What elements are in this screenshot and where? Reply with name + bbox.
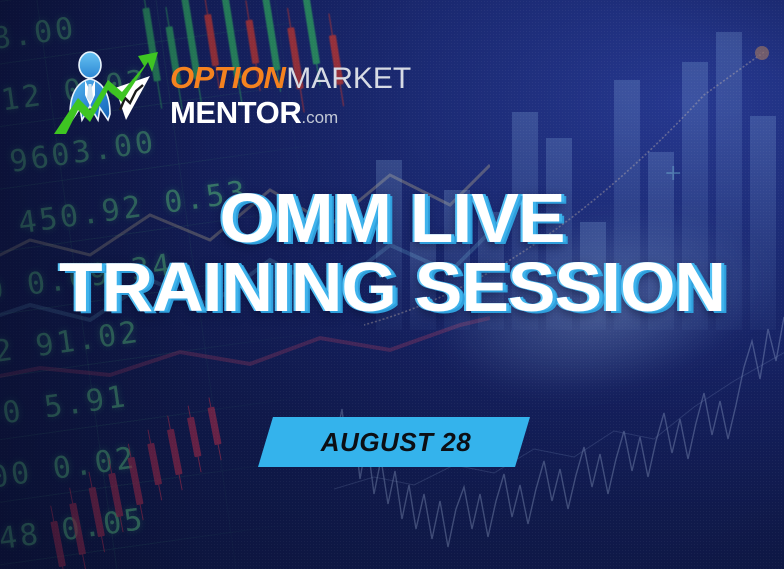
headline-line-1: OMM LIVE	[0, 186, 784, 251]
option-market-mentor-logo[interactable]: OPTIONMARKET MENTOR.com	[52, 48, 337, 140]
logo-word-com: .com	[301, 108, 338, 127]
date-label: AUGUST 28	[321, 427, 471, 458]
date-banner-wrapper: AUGUST 28	[258, 417, 530, 467]
businessman-growth-arrow-icon	[52, 48, 170, 136]
logo-wordmark: OPTIONMARKET MENTOR.com	[170, 62, 385, 128]
logo-word-mentor: MENTOR	[170, 95, 301, 130]
logo-word-market: MARKET	[286, 62, 411, 95]
logo-word-option: OPTION	[170, 60, 285, 95]
date-banner[interactable]: AUGUST 28	[258, 417, 530, 467]
promo-banner: 48 8.0060 12 0.0378 9603.0009 450.92 0.5…	[0, 0, 784, 569]
headline-block: OMM LIVE TRAINING SESSION	[0, 186, 784, 320]
headline-line-2: TRAINING SESSION	[0, 255, 784, 320]
